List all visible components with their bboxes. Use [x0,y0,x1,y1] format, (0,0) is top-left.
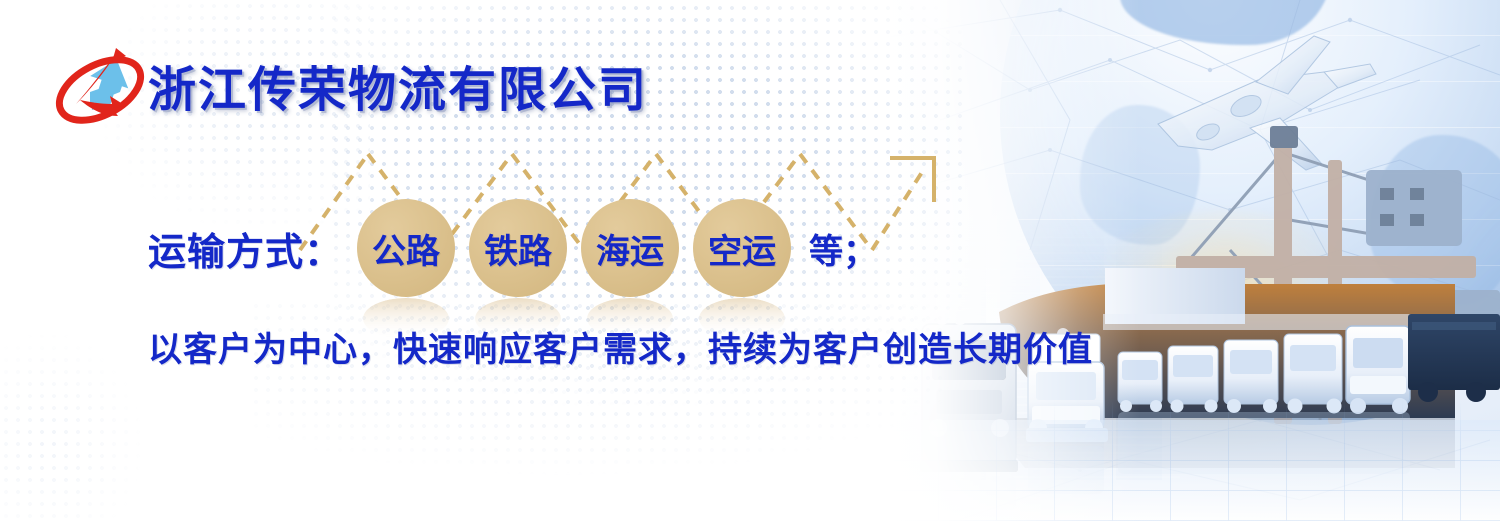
mode-circle-air[interactable]: 空运 [693,199,791,297]
tagline: 以客户为中心，快速响应客户需求，持续为客户创造长期价值 [148,322,1093,371]
mode-circle-rail[interactable]: 铁路 [469,199,567,297]
transport-modes-suffix: 等； [809,224,877,273]
mode-circle-road[interactable]: 公路 [357,199,455,297]
mode-label-air: 空运 [708,224,776,273]
dot-pattern-bottom-left [0,330,160,520]
company-name: 浙江传荣物流有限公司 [148,50,648,120]
company-logo-icon [46,36,154,144]
mode-circle-sea[interactable]: 海运 [581,199,679,297]
transport-modes-row: 运输方式： 公路 铁路 海运 空运 等； [148,196,877,300]
mode-label-road: 公路 [372,224,440,273]
logistics-photo-collage [880,0,1500,521]
transport-modes-label: 运输方式： [148,221,343,276]
mode-label-sea: 海运 [596,224,664,273]
company-banner: 浙江传荣物流有限公司 运输方式： 公路 铁路 海运 空运 等； 以客户为中心，快… [0,0,1500,521]
trailer-graphic [1408,314,1500,402]
ground-grid-lines [880,400,1500,521]
mode-label-rail: 铁路 [484,224,552,273]
